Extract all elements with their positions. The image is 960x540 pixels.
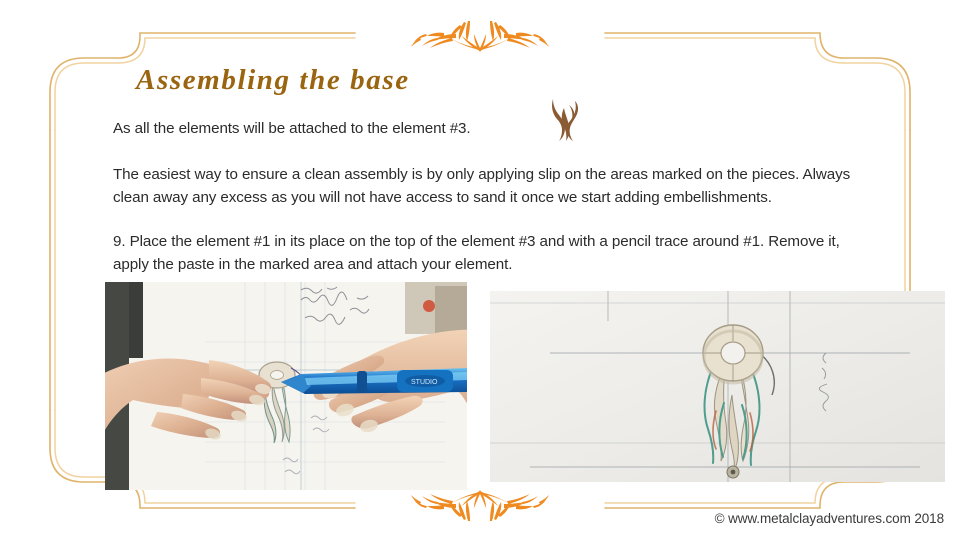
footer-copyright: © www.metalclayadventures.com 2018: [715, 511, 944, 526]
floral-flourish-ornament-icon-bottom: [390, 484, 570, 530]
page-title: Assembling the base: [136, 64, 410, 97]
step-paragraph: 9. Place the element #1 in its place on …: [113, 231, 853, 276]
method-paragraph: The easiest way to ensure a clean assemb…: [113, 164, 853, 209]
slide-canvas: Assembling the base As all the elements …: [0, 0, 960, 540]
photo-pendant: [490, 291, 945, 482]
svg-text:STUDIO: STUDIO: [411, 379, 438, 386]
intro-paragraph: As all the elements will be attached to …: [113, 118, 583, 141]
floral-flourish-ornament-icon: [390, 12, 570, 58]
photo-tracing: STUDIO: [105, 282, 467, 490]
